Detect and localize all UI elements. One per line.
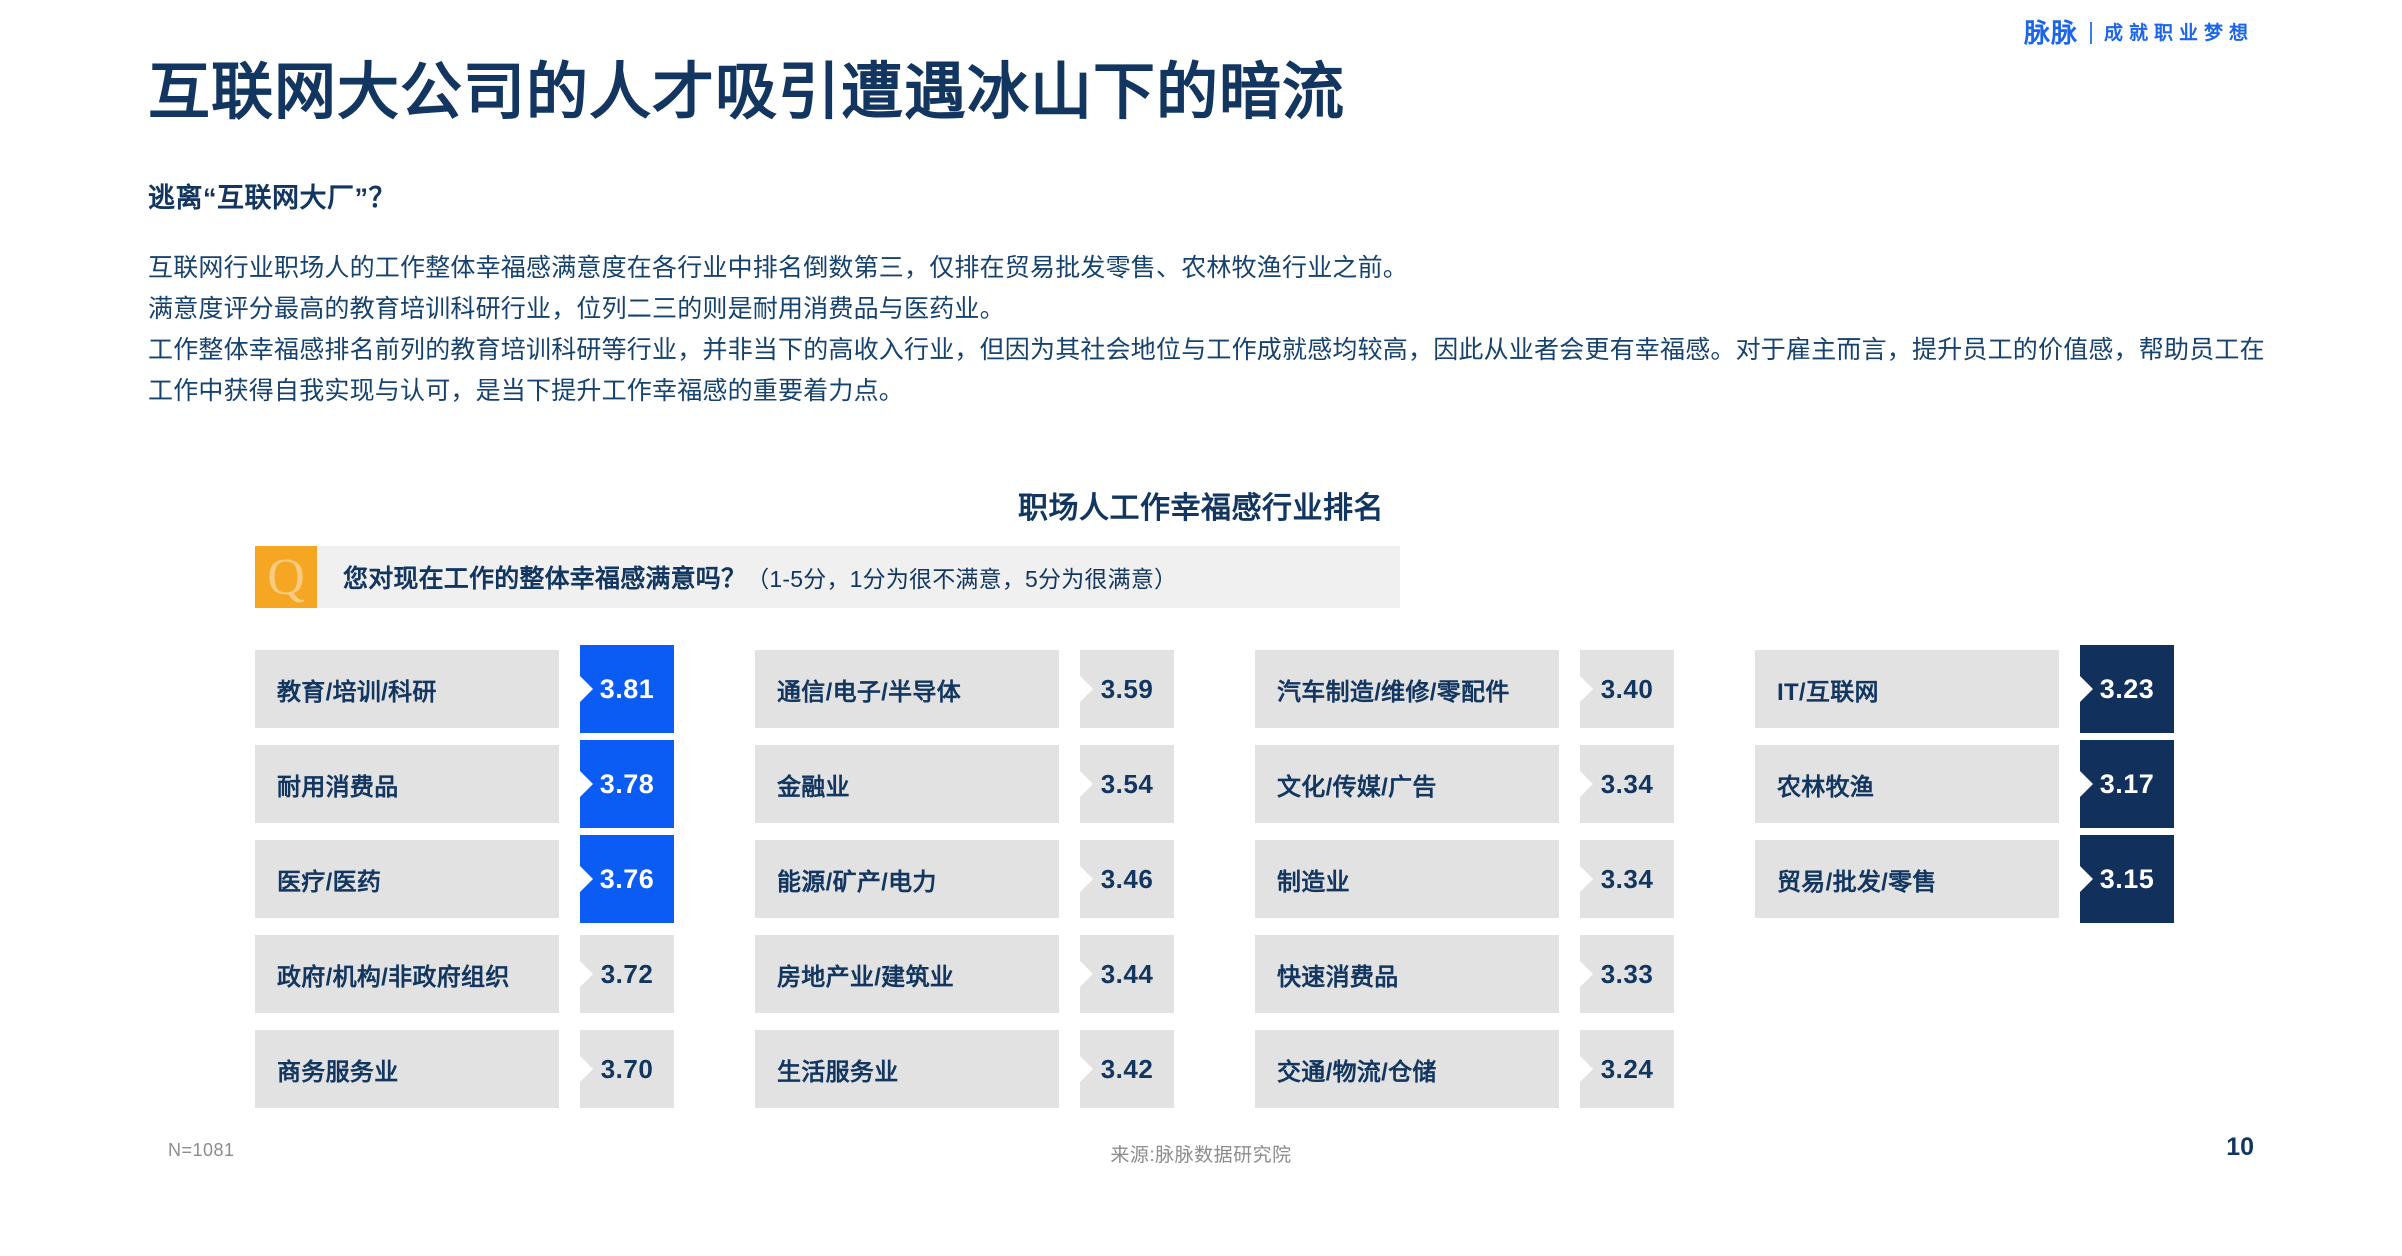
industry-label: 制造业 xyxy=(1255,840,1559,918)
value-wrapper: 3.40 xyxy=(1580,650,1674,728)
chart-title: 职场人工作幸福感行业排名 xyxy=(0,483,2402,527)
value-wrapper: 3.42 xyxy=(1080,1030,1174,1108)
value-wrapper: 3.34 xyxy=(1580,840,1674,918)
brand-slogan: 成就职业梦想 xyxy=(2104,24,2254,43)
industry-label: 汽车制造/维修/零配件 xyxy=(1255,650,1559,728)
score-value: 3.59 xyxy=(1080,650,1174,728)
ranking-row: 汽车制造/维修/零配件 3.40 xyxy=(1255,650,1755,728)
value-wrapper: 3.72 xyxy=(580,935,674,1013)
page-title: 互联网大公司的人才吸引遭遇冰山下的暗流 xyxy=(148,58,1345,127)
score-value: 3.46 xyxy=(1080,840,1174,918)
ranking-row: 制造业 3.34 xyxy=(1255,840,1755,918)
score-value: 3.34 xyxy=(1580,745,1674,823)
body-copy: 互联网行业职场人的工作整体幸福感满意度在各行业中排名倒数第三，仅排在贸易批发零售… xyxy=(148,248,2266,412)
ranking-row: 教育/培训/科研 3.81 xyxy=(255,650,755,728)
ranking-row: 商务服务业 3.70 xyxy=(255,1030,755,1108)
ranking-row: 生活服务业 3.42 xyxy=(755,1030,1255,1108)
industry-label: IT/互联网 xyxy=(1755,650,2059,728)
question-letter: Q xyxy=(267,552,305,604)
industry-label: 通信/电子/半导体 xyxy=(755,650,1059,728)
brand-logo: 脉脉 成就职业梦想 xyxy=(2024,20,2254,46)
industry-label: 文化/传媒/广告 xyxy=(1255,745,1559,823)
ranking-row: 金融业 3.54 xyxy=(755,745,1255,823)
score-value: 3.81 xyxy=(580,645,674,733)
industry-label: 房地产业/建筑业 xyxy=(755,935,1059,1013)
value-wrapper: 3.24 xyxy=(1580,1030,1674,1108)
ranking-grid: 教育/培训/科研 3.81 耐用消费品 3.78 医疗/医药 3.76 政府/机… xyxy=(255,650,2255,1108)
value-wrapper: 3.23 xyxy=(2080,650,2174,728)
industry-label: 金融业 xyxy=(755,745,1059,823)
question-text: 您对现在工作的整体幸福感满意吗？（1-5分，1分为很不满意，5分为很满意） xyxy=(317,559,1177,595)
score-value: 3.34 xyxy=(1580,840,1674,918)
score-value: 3.54 xyxy=(1080,745,1174,823)
ranking-row: 耐用消费品 3.78 xyxy=(255,745,755,823)
industry-label: 医疗/医药 xyxy=(255,840,559,918)
industry-label: 交通/物流/仓储 xyxy=(1255,1030,1559,1108)
industry-label: 生活服务业 xyxy=(755,1030,1059,1108)
page-number: 10 xyxy=(2226,1133,2254,1162)
ranking-row: 交通/物流/仓储 3.24 xyxy=(1255,1030,1755,1108)
page-subtitle: 逃离“互联网大厂”？ xyxy=(148,176,396,215)
score-value: 3.72 xyxy=(580,935,674,1013)
value-wrapper: 3.81 xyxy=(580,650,674,728)
industry-label: 能源/矿产/电力 xyxy=(755,840,1059,918)
score-value: 3.44 xyxy=(1080,935,1174,1013)
value-wrapper: 3.78 xyxy=(580,745,674,823)
ranking-row: 房地产业/建筑业 3.44 xyxy=(755,935,1255,1013)
brand-divider xyxy=(2090,22,2092,44)
ranking-row: 文化/传媒/广告 3.34 xyxy=(1255,745,1755,823)
question-note: （1-5分，1分为很不满意，5分为很满意） xyxy=(746,566,1177,592)
score-value: 3.17 xyxy=(2080,740,2174,828)
ranking-row: 能源/矿产/电力 3.46 xyxy=(755,840,1255,918)
body-paragraph-3: 工作整体幸福感排名前列的教育培训科研等行业，并非当下的高收入行业，但因为其社会地… xyxy=(148,330,2266,412)
source-note: 来源:脉脉数据研究院 xyxy=(0,1140,2402,1167)
industry-label: 耐用消费品 xyxy=(255,745,559,823)
ranking-row: 快速消费品 3.33 xyxy=(1255,935,1755,1013)
question-badge-icon: Q xyxy=(255,546,317,608)
question-main: 您对现在工作的整体幸福感满意吗？ xyxy=(343,565,746,593)
score-value: 3.15 xyxy=(2080,835,2174,923)
ranking-row: IT/互联网 3.23 xyxy=(1755,650,2255,728)
score-value: 3.33 xyxy=(1580,935,1674,1013)
score-value: 3.70 xyxy=(580,1030,674,1108)
ranking-row: 政府/机构/非政府组织 3.72 xyxy=(255,935,755,1013)
body-paragraph-1: 互联网行业职场人的工作整体幸福感满意度在各行业中排名倒数第三，仅排在贸易批发零售… xyxy=(148,248,2266,289)
value-wrapper: 3.34 xyxy=(1580,745,1674,823)
score-value: 3.40 xyxy=(1580,650,1674,728)
ranking-row: 贸易/批发/零售 3.15 xyxy=(1755,840,2255,918)
value-wrapper: 3.59 xyxy=(1080,650,1174,728)
value-wrapper: 3.33 xyxy=(1580,935,1674,1013)
value-wrapper: 3.17 xyxy=(2080,745,2174,823)
industry-label: 农林牧渔 xyxy=(1755,745,2059,823)
ranking-column-1: 教育/培训/科研 3.81 耐用消费品 3.78 医疗/医药 3.76 政府/机… xyxy=(255,650,755,1108)
value-wrapper: 3.76 xyxy=(580,840,674,918)
value-wrapper: 3.54 xyxy=(1080,745,1174,823)
industry-label: 教育/培训/科研 xyxy=(255,650,559,728)
score-value: 3.23 xyxy=(2080,645,2174,733)
ranking-row: 通信/电子/半导体 3.59 xyxy=(755,650,1255,728)
industry-label: 快速消费品 xyxy=(1255,935,1559,1013)
industry-label: 政府/机构/非政府组织 xyxy=(255,935,559,1013)
brand-mark: 脉脉 xyxy=(2024,20,2078,46)
survey-question-bar: Q 您对现在工作的整体幸福感满意吗？（1-5分，1分为很不满意，5分为很满意） xyxy=(255,546,1400,608)
ranking-column-4: IT/互联网 3.23 农林牧渔 3.17 贸易/批发/零售 3.15 xyxy=(1755,650,2255,1108)
ranking-row: 医疗/医药 3.76 xyxy=(255,840,755,918)
body-paragraph-2: 满意度评分最高的教育培训科研行业，位列二三的则是耐用消费品与医药业。 xyxy=(148,289,2266,330)
ranking-row: 农林牧渔 3.17 xyxy=(1755,745,2255,823)
industry-label: 贸易/批发/零售 xyxy=(1755,840,2059,918)
value-wrapper: 3.46 xyxy=(1080,840,1174,918)
score-value: 3.78 xyxy=(580,740,674,828)
score-value: 3.76 xyxy=(580,835,674,923)
score-value: 3.42 xyxy=(1080,1030,1174,1108)
industry-label: 商务服务业 xyxy=(255,1030,559,1108)
value-wrapper: 3.15 xyxy=(2080,840,2174,918)
ranking-column-3: 汽车制造/维修/零配件 3.40 文化/传媒/广告 3.34 制造业 3.34 … xyxy=(1255,650,1755,1108)
value-wrapper: 3.44 xyxy=(1080,935,1174,1013)
score-value: 3.24 xyxy=(1580,1030,1674,1108)
slide-root: 脉脉 成就职业梦想 互联网大公司的人才吸引遭遇冰山下的暗流 逃离“互联网大厂”？… xyxy=(0,0,2402,1256)
value-wrapper: 3.70 xyxy=(580,1030,674,1108)
ranking-column-2: 通信/电子/半导体 3.59 金融业 3.54 能源/矿产/电力 3.46 房地… xyxy=(755,650,1255,1108)
